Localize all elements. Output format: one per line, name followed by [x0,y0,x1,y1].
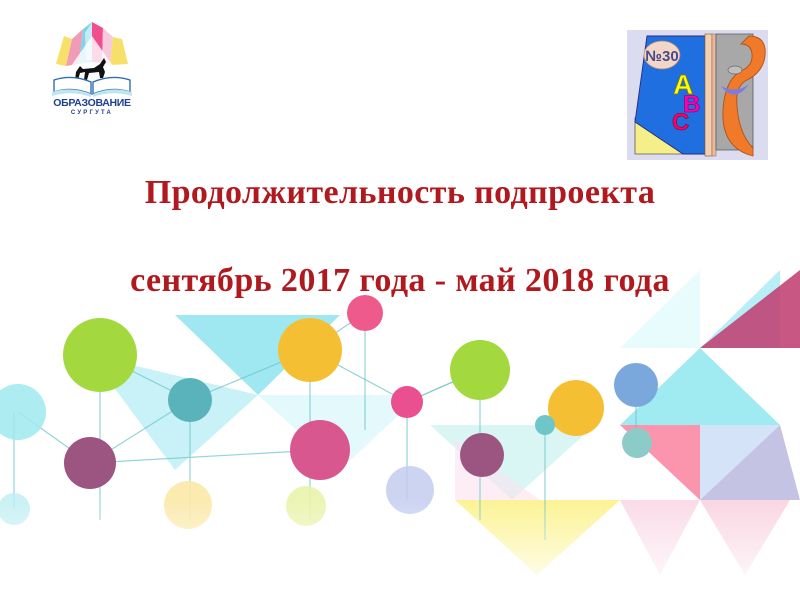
tri-yellow-low [455,500,620,575]
logo-face-eye [728,66,742,74]
node-pink-mid [391,386,423,418]
node-green-right [450,340,510,400]
logo-letter-c: C [672,109,689,136]
tri-cyan-mid [90,355,258,470]
edge-7 [90,450,320,463]
slide-subtitle-line-2: сентябрь 2017 года - май 2018 года [0,263,800,299]
edge-1 [100,355,190,400]
node-mauve-left [64,437,116,489]
edge-5 [407,370,480,402]
obrazovanie-surguta-logo: ОБРАЗОВАНИЕ СУРГУТА [42,6,142,114]
node-teal-center [168,378,212,422]
tri-mint-right [430,425,595,500]
edge-14 [545,408,576,425]
tri-pink-lower [620,500,700,575]
tri-cyan-large [175,315,340,395]
node-cyan-edge [0,384,46,440]
node-teal-right [622,428,652,458]
node-amber-right [548,380,604,436]
node-connector-lines [14,313,636,540]
logo-badge-text: №30 [645,48,678,65]
tri-lav-lower [700,425,800,500]
presentation-slide: ОБРАЗОВАНИЕ СУРГУТА №30 A B C Продолжите… [0,0,800,600]
tri-rose-lower [700,500,790,575]
title-spacer [0,211,800,263]
node-cyan-small [0,493,30,525]
tri-pink-mid [620,425,700,500]
node-lime-pale [286,486,326,526]
node-amber-center [278,318,342,382]
logo-sub-text: СУРГУТА [71,110,113,114]
node-periwinkle [386,466,434,514]
node-mauve-right [460,433,504,477]
node-green-left [63,318,137,392]
edge-6 [18,412,90,463]
edge-3 [310,313,365,350]
slide-title-line-1: Продолжительность подпроекта [0,175,800,211]
edge-2 [190,350,310,400]
node-cream-left [164,481,212,529]
node-rose-top [347,295,383,331]
slide-title-block: Продолжительность подпроекта сентябрь 20… [0,175,800,298]
tri-cyan-rt [620,348,780,425]
node-teal-dot [535,415,555,435]
edge-4 [310,350,407,402]
tri-pinkpale-low [455,440,540,500]
edge-18 [90,400,190,463]
edge-17 [407,370,480,402]
tri-ice-blue [700,425,780,500]
node-blue-right [614,363,658,407]
school-30-abc-logo: №30 A B C [625,22,770,167]
node-magenta-mid [290,420,350,480]
logo-main-text: ОБРАЗОВАНИЕ [53,97,131,109]
logo-book-icon [52,77,132,97]
triangle-mosaic [90,270,800,575]
tri-cyan-soft [258,395,420,470]
node-circles [0,295,658,529]
